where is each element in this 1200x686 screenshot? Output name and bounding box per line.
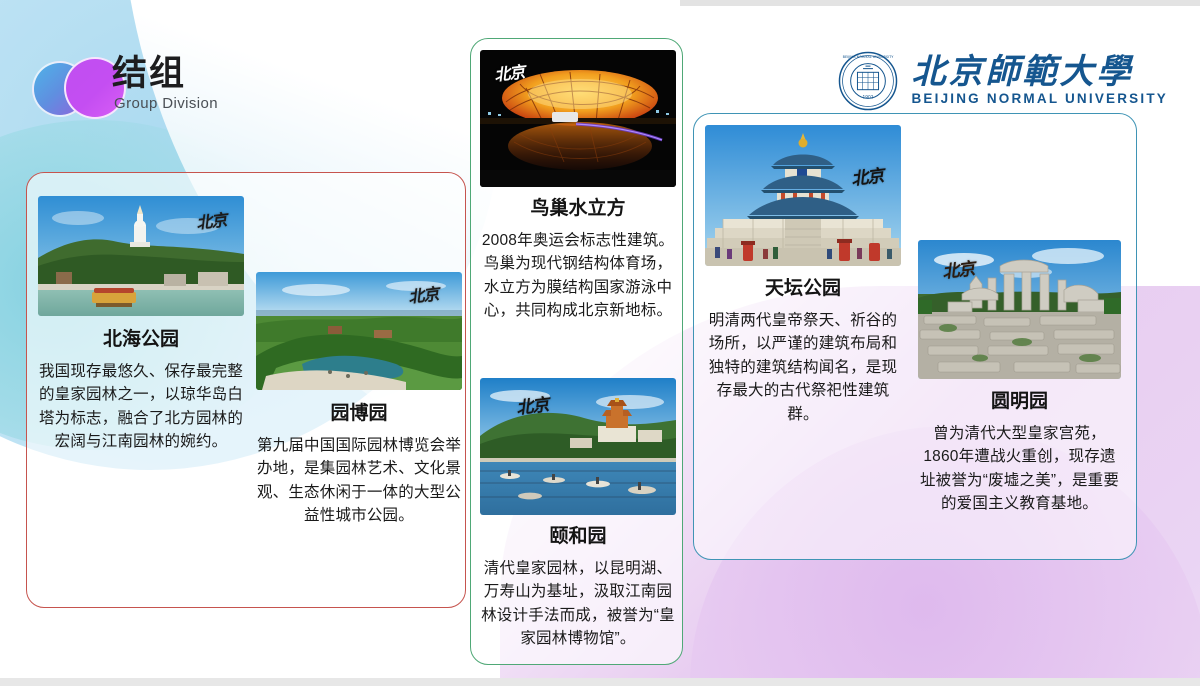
slide-canvas: 结组 Group Division 1902 BEIJING NORMAL UN… bbox=[0, 0, 1200, 686]
item-title-niaochao: 鸟巢水立方 bbox=[480, 198, 676, 221]
photo-yiheyuan: 北京 bbox=[480, 378, 676, 515]
svg-text:BEIJING NORMAL UNIVERSITY: BEIJING NORMAL UNIVERSITY bbox=[843, 55, 895, 59]
page-title: 结组 bbox=[112, 55, 186, 94]
item-desc-tiantan: 明清两代皇帝祭天、祈谷的场所，以严谨的建筑布局和独特的建筑结构闻名，是现存最大的… bbox=[705, 309, 901, 427]
item-title-beihai: 北海公园 bbox=[38, 329, 244, 352]
item-desc-yuanmingyuan: 曾为清代大型皇家宫苑，1860年遭战火重创，现存遗址被誉为“废墟之美”，是重要的… bbox=[918, 422, 1121, 516]
item-desc-yuanboyuan: 第九届中国国际园林博览会举办地，是集园林艺术、文化景观、生态休闲于一体的大型公益… bbox=[256, 434, 462, 528]
item-title-yuanboyuan: 园博园 bbox=[256, 403, 462, 426]
university-logo: 1902 BEIJING NORMAL UNIVERSITY 北京師範大學 BE… bbox=[837, 50, 1168, 112]
item-desc-beihai: 我国现存最悠久、保存最完整的皇家园林之一，以琼华岛白塔为标志，融合了北方园林的宏… bbox=[38, 360, 244, 454]
item-yuanboyuan[interactable]: 北京 园博园 第九届中国国际园林博览会举办地，是集园林艺术、文化景观、生态休闲于… bbox=[256, 272, 462, 528]
item-desc-yiheyuan: 清代皇家园林，以昆明湖、万寿山为基址，汲取江南园林设计手法而成，被誉为“皇家园林… bbox=[480, 557, 676, 651]
bnu-seal-icon: 1902 BEIJING NORMAL UNIVERSITY bbox=[837, 50, 899, 112]
photo-niaochao: 北京 bbox=[480, 50, 676, 187]
photo-yuanboyuan: 北京 bbox=[256, 272, 462, 390]
item-yuanmingyuan[interactable]: 北京 圆明园 曾为清代大型皇家宫苑，1860年遭战火重创，现存遗址被誉为“废墟之… bbox=[918, 240, 1121, 516]
item-title-yuanmingyuan: 圆明园 bbox=[918, 391, 1121, 414]
bottom-edge-strip bbox=[0, 678, 1200, 686]
item-tiantan[interactable]: 北京 天坛公园 明清两代皇帝祭天、祈谷的场所，以严谨的建筑布局和独特的建筑结构闻… bbox=[705, 125, 901, 427]
item-title-tiantan: 天坛公园 bbox=[705, 278, 901, 301]
photo-tiantan: 北京 bbox=[705, 125, 901, 266]
item-beihai[interactable]: 北京 北海公园 我国现存最悠久、保存最完整的皇家园林之一，以琼华岛白塔为标志，融… bbox=[38, 196, 244, 454]
item-title-yiheyuan: 颐和园 bbox=[480, 526, 676, 549]
photo-beihai: 北京 bbox=[38, 196, 244, 316]
university-name-en: BEIJING NORMAL UNIVERSITY bbox=[911, 92, 1168, 106]
university-name-zh: 北京師範大學 bbox=[911, 56, 1168, 90]
item-desc-niaochao: 2008年奥运会标志性建筑。鸟巢为现代钢结构体育场，水立方为膜结构国家游泳中心，… bbox=[480, 229, 676, 323]
page-subtitle: Group Division bbox=[114, 95, 218, 112]
item-niaochao[interactable]: 北京 鸟巢水立方 2008年奥运会标志性建筑。鸟巢为现代钢结构体育场，水立方为膜… bbox=[480, 50, 676, 323]
svg-text:1902: 1902 bbox=[863, 94, 874, 100]
photo-yuanmingyuan: 北京 bbox=[918, 240, 1121, 379]
item-yiheyuan[interactable]: 北京 颐和园 清代皇家园林，以昆明湖、万寿山为基址，汲取江南园林设计手法而成，被… bbox=[480, 378, 676, 651]
